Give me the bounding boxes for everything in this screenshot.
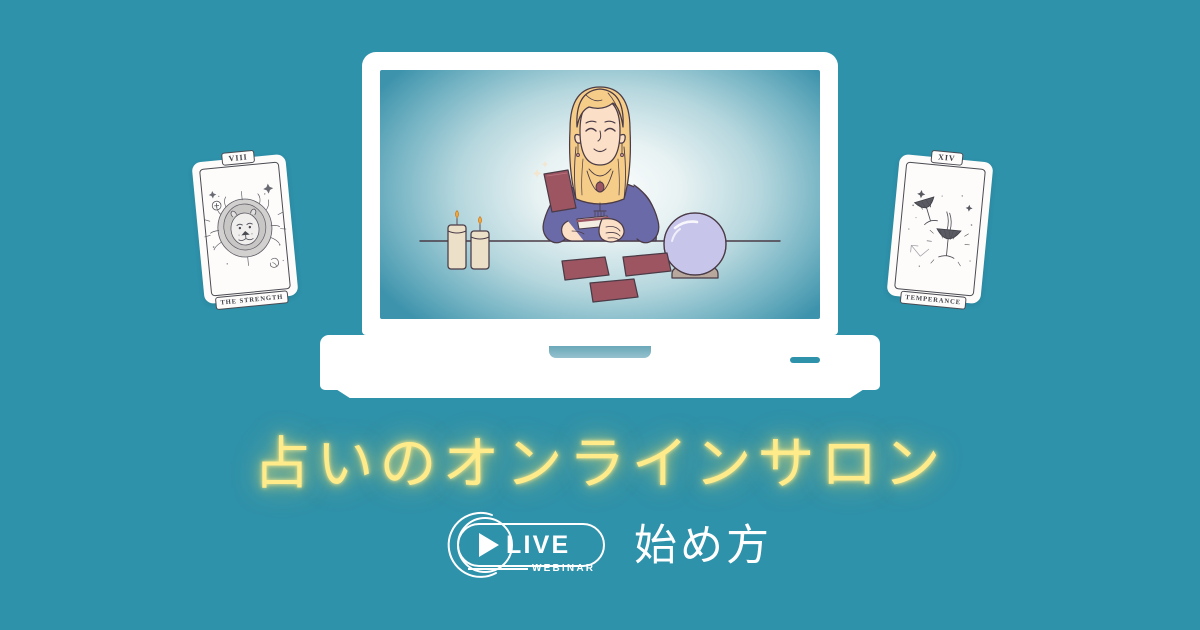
webinar-rule bbox=[468, 568, 528, 570]
lion-head-icon bbox=[193, 168, 297, 290]
promo-banner: VIII bbox=[0, 0, 1200, 630]
live-webinar-badge: LIVE WEBINAR bbox=[428, 512, 608, 586]
live-label: LIVE bbox=[506, 530, 570, 560]
laptop-indicator-slot bbox=[790, 357, 820, 363]
tarot-card-temperance: XIV bbox=[886, 154, 993, 304]
fortune-teller-scene bbox=[380, 70, 820, 319]
badge-row: LIVE WEBINAR 始め方 bbox=[0, 512, 1200, 586]
laptop-trackpad-notch bbox=[549, 346, 651, 358]
laptop-base bbox=[320, 335, 880, 390]
play-triangle-icon bbox=[479, 533, 499, 557]
laptop-screen bbox=[380, 70, 820, 319]
webinar-label: WEBINAR bbox=[532, 562, 595, 575]
laptop-illustration bbox=[320, 52, 880, 392]
subtitle: 始め方 bbox=[634, 521, 772, 571]
laptop-lid bbox=[362, 52, 838, 335]
two-chalices-icon bbox=[888, 168, 992, 290]
tarot-card-strength: VIII bbox=[191, 154, 298, 304]
page-title: 占いのオンラインサロン bbox=[0, 418, 1200, 500]
